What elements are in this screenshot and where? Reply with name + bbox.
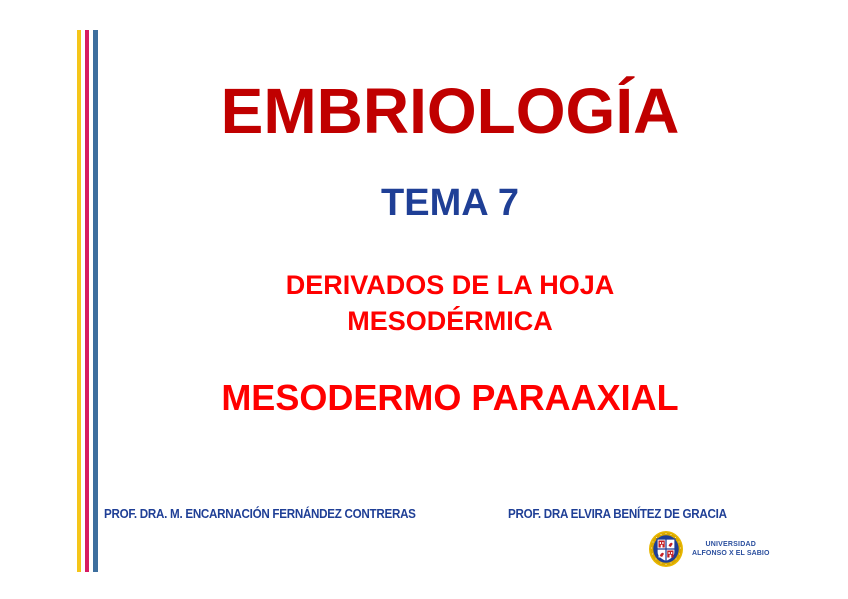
slide-title: EMBRIOLOGÍA [100,78,800,145]
author-name-secondary: PROF. DRA ELVIRA BENÍTEZ DE GRACIA [508,507,727,521]
decorative-stripe-band [74,30,98,572]
university-logo-line-2: ALFONSO X EL SABIO [692,549,770,558]
topic-number: TEMA 7 [100,183,800,225]
university-logo-text: UNIVERSIDAD ALFONSO X EL SABIO [692,540,770,559]
presentation-slide: EMBRIOLOGÍA TEMA 7 DERIVADOS DE LA HOJA … [0,0,848,599]
gold-stripe [77,30,81,572]
blue-stripe [93,30,98,572]
author-name-primary: PROF. DRA. M. ENCARNACIÓN FERNÁNDEZ CONT… [104,507,416,521]
slide-main-topic: MESODERMO PARAAXIAL [100,378,800,418]
subtitle-line-1: DERIVADOS DE LA HOJA [100,267,800,303]
university-logo: UNIVERSIDAD ALFONSO X EL SABIO [648,528,796,570]
university-logo-line-1: UNIVERSIDAD [692,540,770,549]
pink-stripe [85,30,89,572]
slide-subtitle: DERIVADOS DE LA HOJA MESODÉRMICA [100,267,800,340]
subtitle-line-2: MESODÉRMICA [100,303,800,339]
university-crest-icon [648,530,684,568]
